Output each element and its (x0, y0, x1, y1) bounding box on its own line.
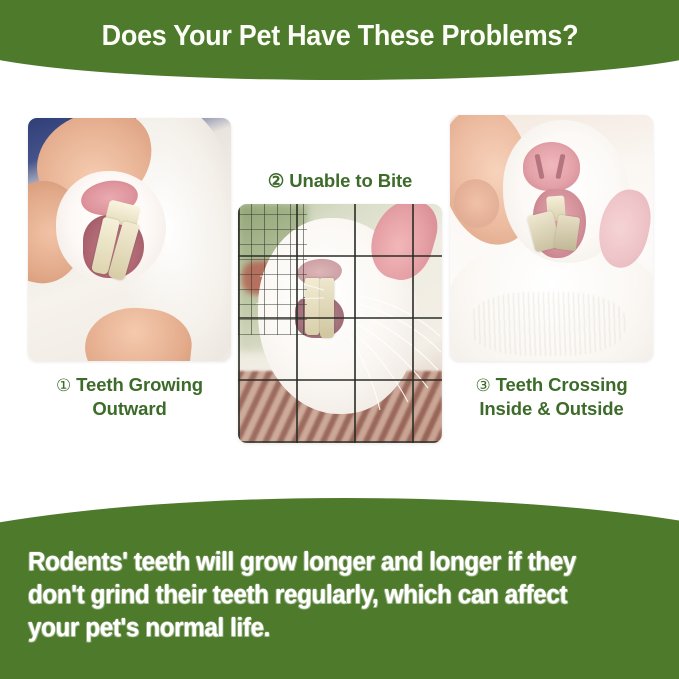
problem-caption-3: ③ Teeth Crossing Inside & Outside (450, 373, 653, 420)
rabbit-nose (523, 142, 580, 191)
problem-photo-unable-to-bite (238, 204, 442, 443)
problem-label-1-line-1: Teeth Growing (76, 374, 203, 395)
problem-label-3-line-1: Teeth Crossing (496, 374, 628, 395)
cage-mesh (238, 204, 442, 443)
problem-card-3: ③ Teeth Crossing Inside & Outside (450, 115, 653, 420)
footer-banner: Rodents' teeth will grow longer and long… (0, 498, 679, 679)
infographic-page: Does Your Pet Have These Problems? ① Tee… (0, 0, 679, 679)
problem-card-1: ① Teeth Growing Outward (28, 118, 231, 420)
problem-number-3: ③ (475, 376, 490, 395)
problem-card-2: ② Unable to Bite (238, 170, 442, 443)
footer-message: Rodents' teeth will grow longer and long… (28, 546, 598, 645)
problem-photo-teeth-crossing (450, 115, 653, 361)
problem-label-3-line-2: Inside & Outside (479, 398, 623, 419)
header-banner: Does Your Pet Have These Problems? (0, 0, 679, 80)
rabbit-tooth-inside (553, 214, 580, 251)
problem-cards: ① Teeth Growing Outward ② Unable to Bite (0, 108, 679, 468)
problem-caption-1: ① Teeth Growing Outward (28, 373, 231, 420)
page-title: Does Your Pet Have These Problems? (0, 20, 679, 53)
problem-caption-2: ② Unable to Bite (238, 170, 442, 192)
problem-photo-teeth-growing-outward (28, 118, 231, 361)
problem-label-1-line-2: Outward (92, 398, 166, 419)
problem-number-2: ② (268, 170, 285, 191)
problem-number-1: ① (56, 376, 71, 395)
rabbit-fur-texture (470, 292, 624, 356)
problem-label-2: Unable to Bite (289, 170, 412, 191)
